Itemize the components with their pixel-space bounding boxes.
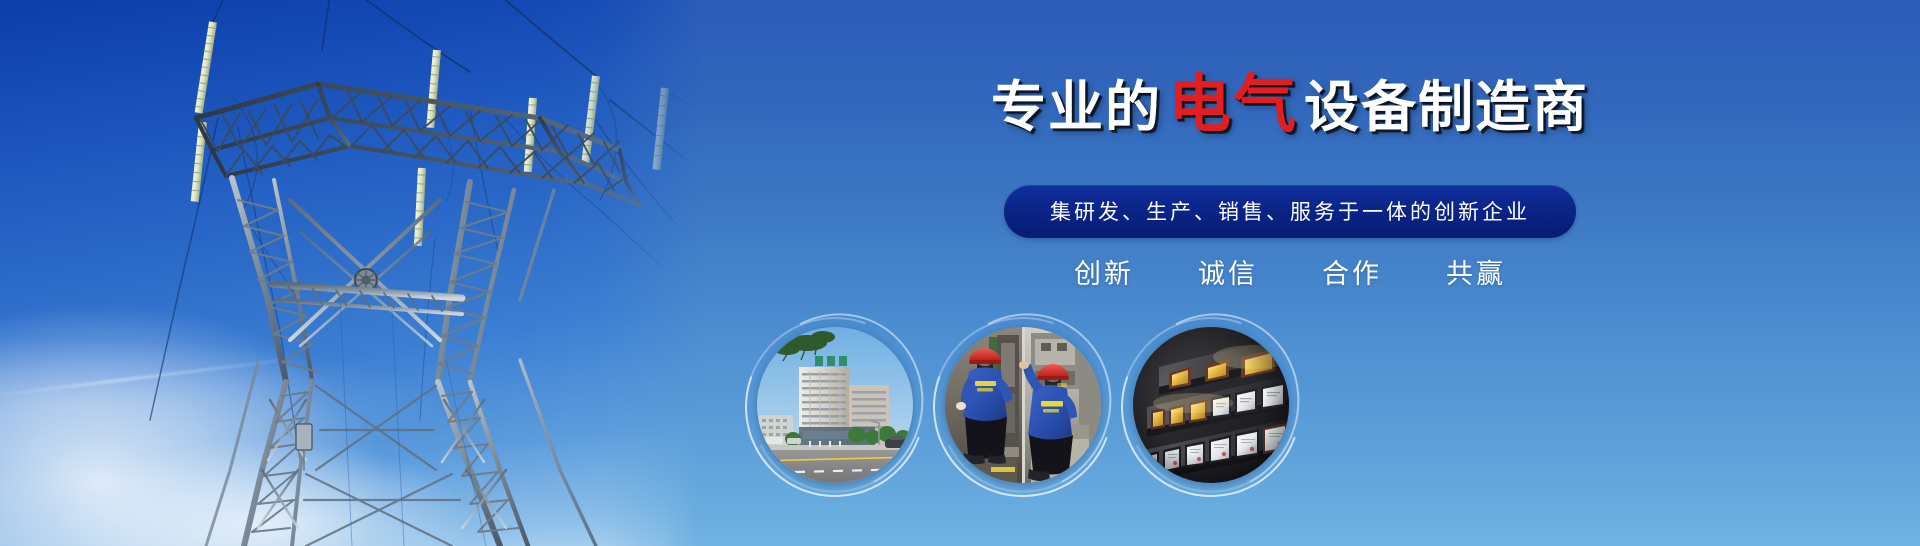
- circle-photo-row: [660, 315, 1920, 490]
- headline-highlight: 电气: [1162, 74, 1304, 137]
- circle-photo-1: [757, 327, 913, 483]
- subtitle-pill-wrap: 集研发、生产、销售、服务于一体的创新企业: [660, 185, 1920, 238]
- technicians-working-photo: [945, 327, 1101, 483]
- hero-banner: 专业的电气设备制造商 集研发、生产、销售、服务于一体的创新企业 创新诚信合作共赢: [0, 0, 1920, 546]
- keyword-integrity: 诚信: [1198, 252, 1258, 291]
- headline-part1: 专业的: [991, 80, 1162, 135]
- keyword-winwin: 共赢: [1446, 252, 1506, 291]
- keyword-row: 创新诚信合作共赢: [660, 252, 1920, 291]
- office-building-photo: [757, 327, 913, 483]
- subtitle-pill: 集研发、生产、销售、服务于一体的创新企业: [1004, 185, 1576, 238]
- keyword-innovation: 创新: [1074, 252, 1134, 291]
- banner-content: 专业的电气设备制造商 集研发、生产、销售、服务于一体的创新企业 创新诚信合作共赢: [660, 0, 1920, 546]
- keyword-cooperation: 合作: [1322, 252, 1382, 291]
- circle-photo-2: [945, 327, 1101, 483]
- certificates-wall-photo: [1133, 327, 1289, 483]
- transmission-tower-graphic: [0, 0, 700, 546]
- page-title: 专业的电气设备制造商: [660, 74, 1920, 137]
- headline-part2: 设备制造商: [1304, 80, 1589, 135]
- circle-photo-3: [1133, 327, 1289, 483]
- transmission-tower-photo: [0, 0, 700, 546]
